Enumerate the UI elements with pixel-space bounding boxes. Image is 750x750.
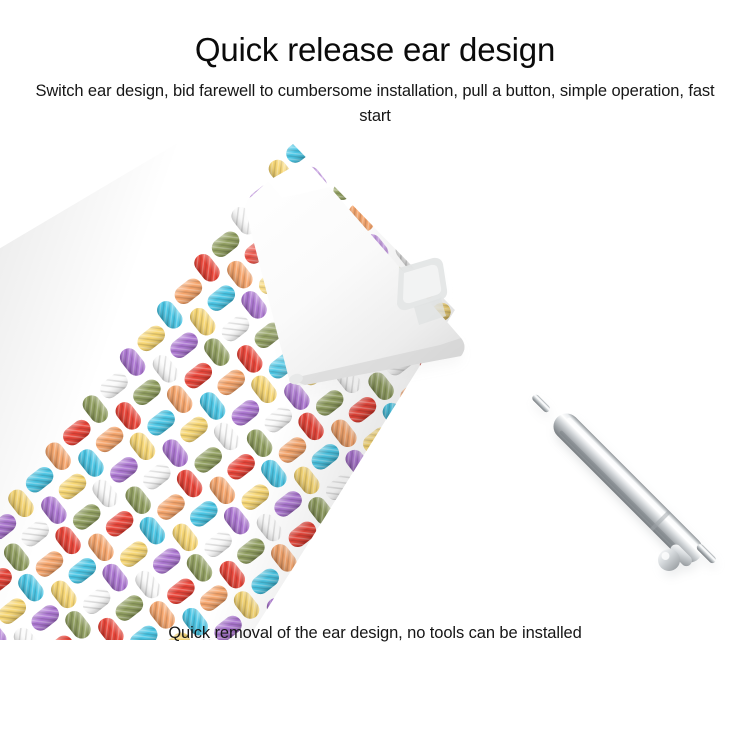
braid-cord: [79, 585, 114, 618]
braid-cord: [65, 554, 100, 587]
braid-cord: [234, 535, 269, 568]
braid-cord: [471, 282, 506, 315]
braid-cord: [365, 562, 400, 595]
braid-cord: [412, 406, 445, 441]
page-subtitle: Switch ear design, bid farewell to cumbe…: [25, 70, 725, 130]
braid-cord: [32, 548, 67, 581]
braid-cord: [379, 399, 412, 434]
braid-cord: [248, 565, 283, 598]
braid-cord: [214, 366, 249, 399]
braid-cord: [385, 537, 418, 572]
braid-cord: [261, 403, 296, 436]
braid-cord: [22, 463, 57, 496]
braid-cord: [397, 377, 432, 410]
braid-cord: [283, 140, 318, 166]
braid-cord: [0, 564, 15, 597]
braid-cord: [171, 275, 206, 308]
braid-cord: [275, 434, 310, 467]
braid-cord: [208, 228, 243, 261]
braid-cord: [102, 507, 137, 540]
braid-cord: [496, 396, 529, 431]
braid-cord: [369, 508, 404, 541]
braid-cord: [69, 501, 104, 534]
braid-cord: [154, 491, 189, 524]
braid-cord: [224, 450, 259, 483]
braid-cord: [444, 414, 479, 447]
braid-cord: [116, 538, 151, 571]
braid-cord: [463, 389, 496, 424]
braid-cord: [308, 440, 343, 473]
braid-cord: [402, 515, 437, 548]
lug-connector: [245, 163, 464, 386]
braid-cord: [312, 387, 347, 420]
braid-cord: [55, 470, 90, 503]
braid-cord: [352, 531, 385, 566]
braid-cord: [355, 478, 390, 511]
braid-cord: [285, 518, 320, 551]
release-knob-ball: [658, 549, 680, 571]
product-marketing-image: Quick release ear design Switch ear desi…: [0, 0, 750, 750]
braid-cord: [112, 592, 147, 625]
product-illustration: [0, 140, 750, 640]
braid-cord: [359, 424, 394, 457]
page-title: Quick release ear design: [0, 0, 750, 70]
braid-cord: [315, 578, 348, 613]
braid-cord: [389, 484, 422, 519]
product-photo: [0, 140, 750, 640]
spring-bar-body: [548, 408, 708, 568]
braid-cord: [338, 500, 371, 535]
braid-cord: [191, 444, 226, 477]
braid-cord: [218, 312, 253, 345]
braid-cord: [347, 585, 380, 620]
braid-cord: [238, 481, 273, 514]
text-block: Quick release ear design Switch ear desi…: [0, 0, 750, 130]
braid-cord: [345, 393, 380, 426]
braid-cord: [204, 282, 239, 315]
photo-caption: Quick removal of the ear design, no tool…: [0, 624, 750, 643]
braid-cord: [300, 547, 333, 582]
braid-cord: [167, 329, 202, 362]
braid-cord: [481, 367, 516, 400]
braid-cord: [449, 359, 482, 394]
braid-cord: [186, 497, 221, 530]
braid-cord: [501, 342, 534, 377]
braid-cord: [97, 369, 132, 402]
braid-cord: [467, 336, 502, 369]
braid-cord: [392, 431, 427, 464]
braid-cord: [149, 545, 184, 578]
braid-cord: [439, 468, 474, 501]
braid-cord: [407, 461, 442, 494]
braid-cord: [453, 305, 486, 340]
braid-cord: [271, 488, 306, 521]
spring-bar-tip-top: [531, 393, 552, 414]
braid-cord: [377, 208, 412, 241]
braid-cord: [477, 421, 512, 454]
braid-cord: [139, 460, 174, 493]
braid-cord: [0, 510, 20, 543]
braid-cord: [486, 312, 519, 347]
spring-bar: [531, 393, 717, 571]
braid-cord: [196, 582, 231, 615]
braid-cord: [164, 575, 199, 608]
braid-cord: [181, 359, 216, 392]
braid-cord: [201, 528, 236, 561]
braid-cord: [318, 525, 353, 558]
braid-cord: [332, 555, 367, 588]
braid-cord: [177, 413, 212, 446]
braid-cord: [375, 453, 408, 488]
braid-cord: [59, 416, 94, 449]
braid-cord: [430, 383, 465, 416]
braid-cord: [130, 376, 165, 409]
braid-cord: [18, 517, 53, 550]
braid-cord: [144, 406, 179, 439]
braid-cord: [107, 453, 142, 486]
braid-cord: [281, 572, 316, 605]
braid-cord: [426, 436, 459, 471]
braid-cord: [0, 595, 30, 628]
braid-cord: [322, 471, 357, 504]
braid-cord: [134, 322, 169, 355]
braid-cord: [92, 423, 127, 456]
braid-cord: [422, 490, 455, 525]
braid-cord: [228, 396, 263, 429]
braid-cord: [459, 443, 492, 478]
